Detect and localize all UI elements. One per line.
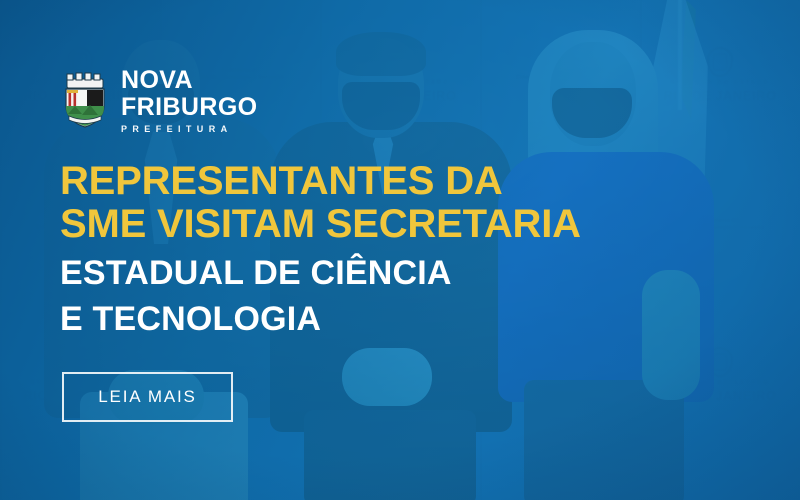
headline-yellow-line-2: SME VISITAM SECRETARIA <box>60 203 720 246</box>
nova-friburgo-coat-of-arms-icon <box>60 70 110 132</box>
headline-white-line-2: E TECNOLOGIA <box>60 300 720 338</box>
news-banner: GOVERNO DO ESTADORIO DE JANEIROSecretari… <box>0 0 800 500</box>
brand-line-friburgo: FRIBURGO <box>121 95 258 120</box>
read-more-button[interactable]: LEIA MAIS <box>62 372 233 422</box>
brand-line-nova: NOVA <box>121 68 258 93</box>
headline-yellow-line-1: REPRESENTANTES DA <box>60 160 720 203</box>
headline-white-line-1: ESTADUAL DE CIÊNCIA <box>60 254 720 292</box>
brand-lockup[interactable]: NOVA FRIBURGO PREFEITURA <box>60 68 258 134</box>
banner-content: NOVA FRIBURGO PREFEITURA REPRESENTANTES … <box>0 0 800 500</box>
headline-block: REPRESENTANTES DA SME VISITAM SECRETARIA… <box>60 160 720 338</box>
brand-wordmark: NOVA FRIBURGO PREFEITURA <box>121 68 258 134</box>
brand-line-prefeitura: PREFEITURA <box>121 125 258 134</box>
